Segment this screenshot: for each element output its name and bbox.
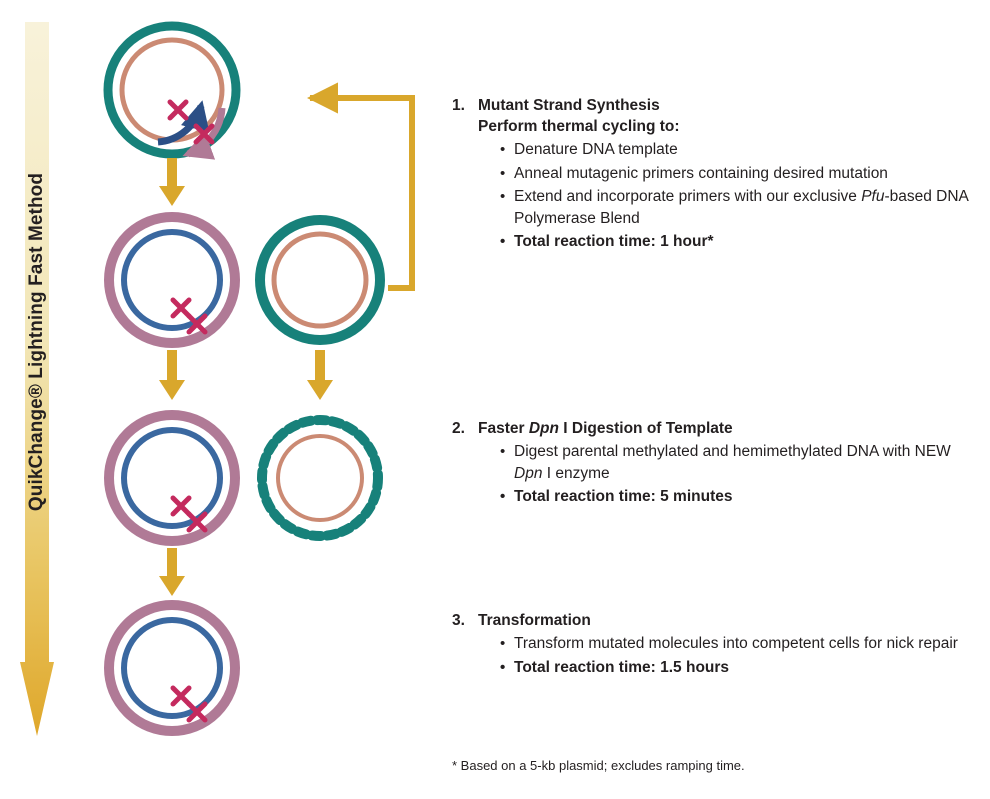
bullet-item: Digest parental methylated and hemimethy… xyxy=(500,441,980,484)
inner-ring-salmon xyxy=(278,436,362,520)
bullet-item: Total reaction time: 5 minutes xyxy=(500,486,980,508)
inner-ring-salmon xyxy=(274,234,366,326)
step-1-bullets: Denature DNA templateAnneal mutagenic pr… xyxy=(452,139,980,253)
bullet-item: Extend and incorporate primers with our … xyxy=(500,186,980,229)
plasmid-row1-left xyxy=(108,26,236,154)
step-3-heading: 3. Transformation xyxy=(452,611,980,631)
mutation-x-mark xyxy=(173,300,189,316)
step-1: 1. Mutant Strand Synthesis Perform therm… xyxy=(452,96,980,253)
step-2-heading: 2. Faster Dpn I Digestion of Template xyxy=(452,419,980,439)
step-2: 2. Faster Dpn I Digestion of Template Di… xyxy=(452,419,980,508)
step-3-bullets: Transform mutated molecules into compete… xyxy=(452,633,980,678)
outer-ring-mauve xyxy=(109,217,235,343)
flow-arrow-right-2 xyxy=(307,350,333,400)
step-3-title: Transformation xyxy=(478,612,591,629)
plasmid-row2-right xyxy=(260,220,380,340)
plasmid-row3-left xyxy=(109,415,235,541)
flow-arrow-left-1 xyxy=(159,158,185,206)
step-1-number: 1. xyxy=(452,96,465,116)
bullet-item: Denature DNA template xyxy=(500,139,980,161)
mutation-x-mark xyxy=(173,498,189,514)
bullet-item: Transform mutated molecules into compete… xyxy=(500,633,980,655)
step-1-title: Mutant Strand Synthesis xyxy=(478,97,660,114)
banner-arrow-shape xyxy=(20,22,54,736)
step-2-bullets: Digest parental methylated and hemimethy… xyxy=(452,441,980,508)
step-1-heading: 1. Mutant Strand Synthesis xyxy=(452,96,980,116)
bullet-item: Total reaction time: 1.5 hours xyxy=(500,657,980,679)
step-2-number: 2. xyxy=(452,419,465,439)
method-banner: QuikChange® Lightning Fast Method xyxy=(20,22,54,736)
mutation-x-mark xyxy=(170,102,186,118)
flow-arrow-left-2 xyxy=(159,350,185,400)
outer-ring-mauve xyxy=(109,415,235,541)
step-3-number: 3. xyxy=(452,611,465,631)
step-1-subtitle: Perform thermal cycling to: xyxy=(452,116,980,137)
plasmid-row3-right-digested xyxy=(262,420,378,536)
outer-ring-mauve xyxy=(109,605,235,731)
step-2-title: Faster Dpn I Digestion of Template xyxy=(478,420,733,437)
flow-arrow-left-3 xyxy=(159,548,185,596)
footnote: * Based on a 5-kb plasmid; excludes ramp… xyxy=(452,757,745,774)
step-3: 3. Transformation Transform mutated mole… xyxy=(452,611,980,678)
plasmid-row2-left xyxy=(109,217,235,343)
plasmid-row4-left xyxy=(109,605,235,731)
steps-column: 1. Mutant Strand Synthesis Perform therm… xyxy=(452,0,980,799)
outer-ring-teal xyxy=(260,220,380,340)
mutation-x-mark xyxy=(173,688,189,704)
inner-ring-salmon xyxy=(122,40,222,140)
bullet-item: Total reaction time: 1 hour* xyxy=(500,231,980,253)
bullet-item: Anneal mutagenic primers containing desi… xyxy=(500,163,980,185)
